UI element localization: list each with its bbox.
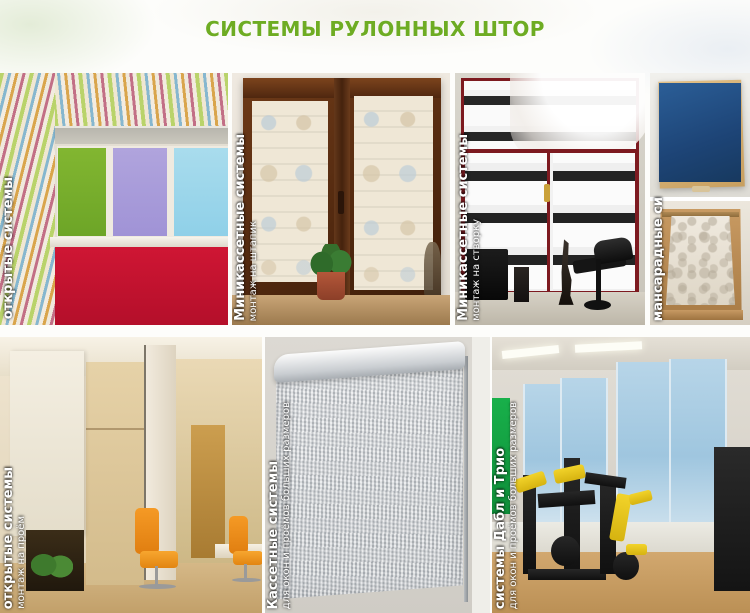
tile-mansard[interactable]: мансарадные си [650,73,750,325]
photo-wood-window [232,73,450,325]
photo-zebra-blinds [455,73,645,325]
photo-skylight-blue [650,73,750,197]
tile-double-trio[interactable]: системы Дабл и Трио для окон и проёмов б… [492,337,750,613]
tile-cassette-systems[interactable]: Кассетные системы для окон и проёмов бол… [265,337,490,613]
photo-gym-blue-blinds [492,337,750,613]
tile-open-systems[interactable]: открытые системы [0,73,228,325]
page-title: СИСТЕМЫ РУЛОННЫХ ШТОР [0,17,750,41]
photo-colorful-room [0,73,228,325]
photo-skylight-beige [650,201,750,325]
poster-root: СИСТЕМЫ РУЛОННЫХ ШТОР открытые системы [0,0,750,613]
tile-open-systems-proem[interactable]: открытые системы монтаж на проём [0,337,262,613]
tile-minicassette-stvorka[interactable]: Миникассетные системы монтаж на створку [455,73,645,325]
poster-header: СИСТЕМЫ РУЛОННЫХ ШТОР [0,0,750,70]
photo-office-corridor [0,337,262,613]
photo-cassette-product [265,337,490,613]
tile-minicassette-shtapik[interactable]: Миникассетные системы монтаж на штапик [232,73,450,325]
